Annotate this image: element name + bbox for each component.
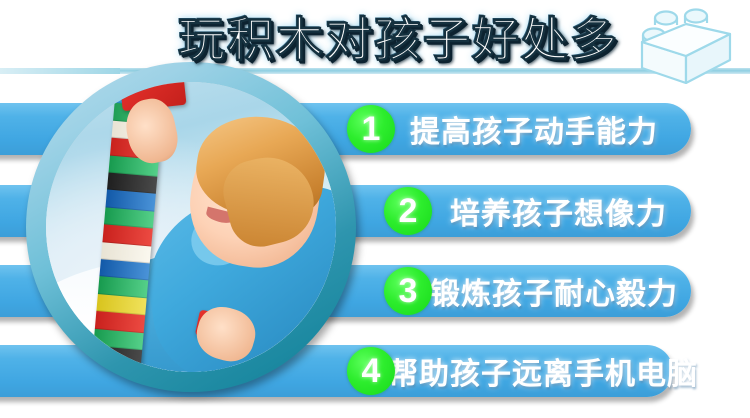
benefit-label-2: 培养孩子想像力	[450, 189, 667, 233]
poster-canvas: 玩积木对孩子好处多 提高孩子动手能力 1 培养孩子想像力 2 锻炼孩	[0, 0, 750, 418]
benefit-number-3: 3	[384, 267, 432, 315]
benefit-number-2: 2	[384, 187, 432, 235]
photo-circle-frame	[26, 62, 356, 392]
benefit-label-1: 提高孩子动手能力	[410, 107, 658, 151]
page-title: 玩积木对孩子好处多	[178, 6, 619, 64]
lego-brick-icon	[630, 4, 742, 84]
benefit-label-4: 帮助孩子远离手机电脑	[388, 349, 698, 393]
child-blocks-photo	[46, 82, 336, 372]
benefit-label-3: 锻炼孩子耐心毅力	[430, 269, 678, 313]
